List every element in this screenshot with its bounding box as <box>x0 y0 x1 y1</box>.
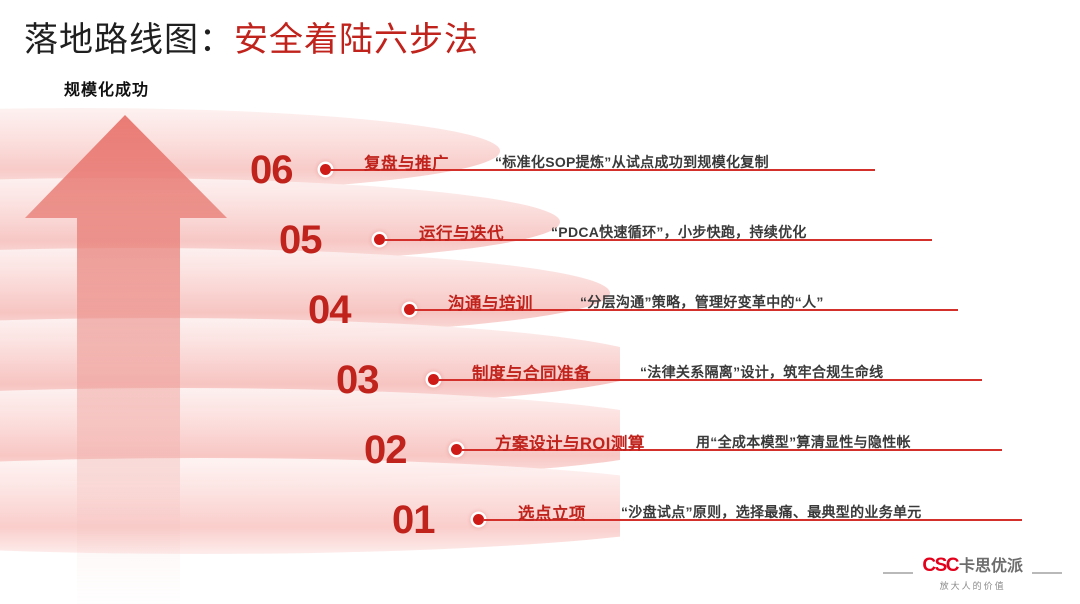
step-desc-03: “法律关系隔离”设计，筑牢合规生命线 <box>640 362 883 382</box>
page-title-prefix: 落地路线图： <box>24 21 234 59</box>
logo-divider-left <box>883 572 913 573</box>
step-desc-02: 用“全成本模型”算清显性与隐性帐 <box>696 432 911 452</box>
page-title-highlight: 安全着陆六步法 <box>234 21 479 59</box>
page-title: 落地路线图：安全着陆六步法 <box>24 12 479 61</box>
logo-wordmark: CSC 卡思优派 <box>922 552 1023 577</box>
step-desc-05: “PDCA快速循环”，小步快跑，持续优化 <box>551 222 807 242</box>
slide-root: 落地路线图：安全着陆六步法 规模化成功 <box>0 0 1080 604</box>
logo-csc-mark: CSC <box>922 555 958 577</box>
step-title-06: 复盘与推广 <box>364 150 449 174</box>
step-title-02: 方案设计与ROI测算 <box>495 430 645 454</box>
step-number-05: 05 <box>279 220 322 260</box>
step-number-06: 06 <box>250 150 293 190</box>
step-desc-01: “沙盘试点”原则，选择最痛、最典型的业务单元 <box>621 502 922 522</box>
step-number-01: 01 <box>392 500 435 540</box>
axis-label-scale-success: 规模化成功 <box>64 76 149 100</box>
step-number-03: 03 <box>336 360 379 400</box>
step-title-05: 运行与迭代 <box>419 220 504 244</box>
logo-divider-right <box>1032 572 1062 573</box>
step-desc-04: “分层沟通”策略，管理好变革中的“人” <box>580 292 824 312</box>
step-title-04: 沟通与培训 <box>448 290 533 314</box>
step-number-04: 04 <box>308 290 351 330</box>
step-number-02: 02 <box>364 430 407 470</box>
step-desc-06: “标准化SOP提炼”从试点成功到规模化复制 <box>495 152 769 172</box>
logo-company-name: 卡思优派 <box>959 552 1023 576</box>
logo-tagline: 放大人的价值 <box>940 579 1006 592</box>
step-title-03: 制度与合同准备 <box>472 360 591 384</box>
logo-core: CSC 卡思优派 放大人的价值 <box>922 552 1023 592</box>
step-title-01: 选点立项 <box>518 500 586 524</box>
pyramid-graphic <box>0 104 620 604</box>
brand-logo: CSC 卡思优派 放大人的价值 <box>883 552 1062 592</box>
